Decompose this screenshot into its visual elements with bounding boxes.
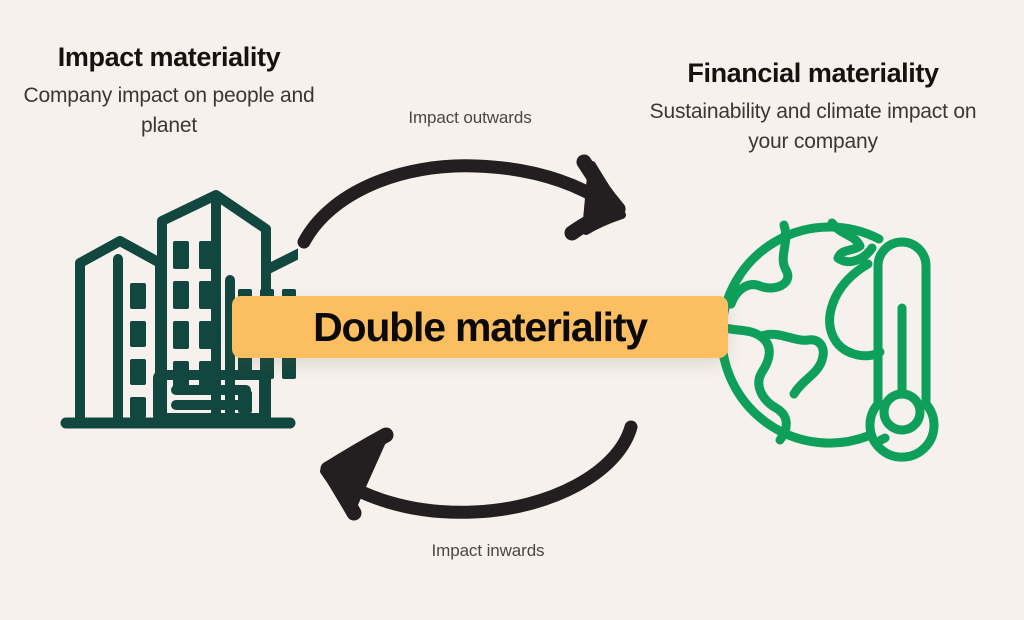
impact-materiality-text-block: Impact materiality Company impact on peo…	[14, 42, 324, 141]
impact-materiality-heading: Impact materiality	[14, 42, 324, 73]
curved-arrow-left-icon	[286, 415, 646, 535]
double-materiality-label: Double materiality	[313, 307, 647, 348]
financial-materiality-heading: Financial materiality	[648, 58, 978, 89]
impact-outwards-label: Impact outwards	[365, 108, 575, 128]
double-materiality-banner: Double materiality	[232, 296, 728, 358]
financial-materiality-text-block: Financial materiality Sustainability and…	[648, 58, 978, 157]
diagram-canvas: Impact materiality Company impact on peo…	[0, 0, 1024, 620]
impact-inwards-label: Impact inwards	[383, 541, 593, 561]
financial-materiality-subtitle: Sustainability and climate impact on you…	[648, 97, 978, 157]
impact-materiality-subtitle: Company impact on people and planet	[14, 81, 324, 141]
curved-arrow-right-icon	[296, 145, 646, 270]
